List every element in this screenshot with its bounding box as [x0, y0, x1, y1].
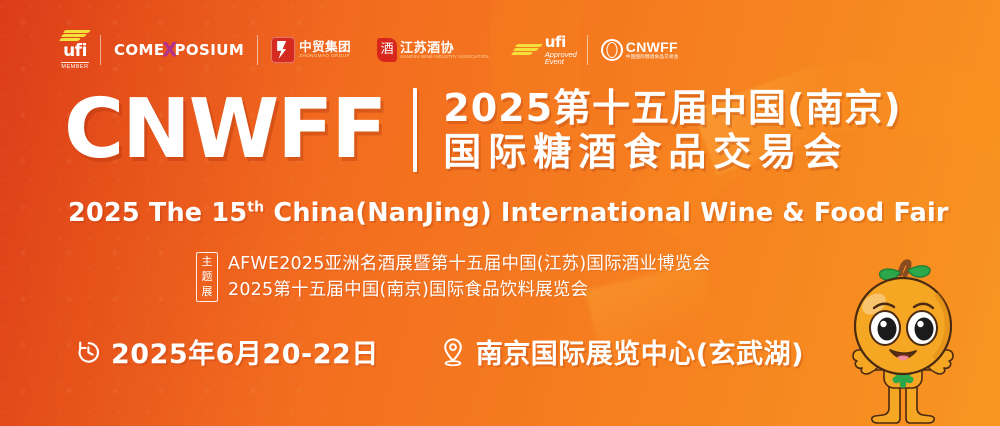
event-banner: ufi Member COMEXPOSIUM 中贸集团 ZHONGMAO GRO…	[0, 0, 1000, 426]
theme-line-1: AFWE2025亚洲名酒展暨第十五届中国(江苏)国际酒业博览会	[228, 253, 710, 276]
theme-badge: 主 题 展	[196, 252, 218, 302]
ufi-approved-text: ufi	[545, 35, 566, 50]
logo-comexposium[interactable]: COMEXPOSIUM	[101, 28, 257, 72]
subtitle-post: China(NanJing) International Wine & Food…	[264, 198, 948, 228]
orange-mascot	[828, 258, 978, 426]
zhongmao-en-name: ZHONGMAO GROUP	[299, 54, 351, 59]
event-venue-text: 南京国际展览中心(玄武湖)	[476, 332, 804, 371]
logo-zhongmao-group[interactable]: 中贸集团 ZHONGMAO GROUP	[258, 28, 364, 72]
ufi-member-subtext: Member	[61, 62, 88, 70]
theme-badge-char-2: 题	[202, 270, 213, 284]
chinese-title-line-2: 国际糖酒食品交易会	[443, 132, 902, 172]
logo-jiangsu-wine-association[interactable]: 江苏酒协 JIANGSU WINE INDUSTRY ASSOCIATION	[364, 28, 502, 72]
logo-ufi-approved-event[interactable]: ufi Approved Event	[502, 28, 587, 72]
subtitle-pre: 2025 The 15	[68, 198, 247, 228]
event-venue: 南京国际展览中心(玄武湖)	[439, 332, 804, 371]
subtitle-ordinal: th	[247, 200, 264, 216]
page-title: CNWFF	[64, 89, 385, 171]
theme-lines: AFWE2025亚洲名酒展暨第十五届中国(江苏)国际酒业博览会 2025第十五届…	[228, 253, 710, 302]
globe-icon	[601, 39, 623, 61]
title-divider	[413, 88, 417, 172]
hero-title-group: CNWFF 2025第十五届中国(南京) 国际糖酒食品交易会	[64, 88, 902, 173]
comexposium-text: COMEXPOSIUM	[114, 41, 244, 59]
logo-ufi-member[interactable]: ufi Member	[50, 28, 100, 72]
event-info-row: 2025年6月20-22日 南京国际展览中心(玄武湖)	[74, 332, 804, 371]
jiangsu-cn-name: 江苏酒协	[400, 41, 489, 55]
ufi-wing-icon	[60, 30, 90, 42]
comex-x-icon: X	[162, 38, 178, 62]
clock-icon	[74, 338, 102, 366]
jiangsu-en-name: JIANGSU WINE INDUSTRY ASSOCIATION	[400, 55, 489, 59]
zhongmao-text-block: 中贸集团 ZHONGMAO GROUP	[299, 41, 351, 59]
cnwff-logo-main: CNWFF	[626, 40, 679, 54]
theme-badge-char-3: 展	[202, 285, 213, 299]
ufi-member-text: ufi	[63, 43, 87, 60]
event-date-text: 2025年6月20-22日	[111, 332, 379, 371]
theme-badge-char-1: 主	[202, 255, 213, 269]
zhongmao-mark-icon	[271, 37, 295, 63]
logo-cnwff[interactable]: CNWFF 中国国际糖酒食品交易会	[588, 28, 692, 72]
theme-exhibitions: 主 题 展 AFWE2025亚洲名酒展暨第十五届中国(江苏)国际酒业博览会 20…	[196, 252, 710, 302]
event-date: 2025年6月20-22日	[74, 332, 379, 371]
cnwff-logo-text-block: CNWFF 中国国际糖酒食品交易会	[626, 40, 679, 60]
ufi-approved-sub2: Event	[545, 58, 564, 66]
sponsor-logo-bar: ufi Member COMEXPOSIUM 中贸集团 ZHONGMAO GRO…	[50, 26, 692, 74]
location-pin-icon	[439, 337, 467, 367]
comex-part-1: COME	[114, 41, 165, 59]
chinese-title-block: 2025第十五届中国(南京) 国际糖酒食品交易会	[443, 88, 902, 173]
jiangsu-seal-icon	[377, 38, 397, 62]
english-subtitle: 2025 The 15th China(NanJing) Internation…	[68, 198, 949, 228]
chinese-title-line-1: 2025第十五届中国(南京)	[443, 88, 902, 128]
comex-part-2: POSIUM	[175, 41, 245, 59]
theme-line-2: 2025第十五届中国(南京)国际食品饮料展览会	[228, 279, 710, 302]
cnwff-logo-sub: 中国国际糖酒食品交易会	[626, 55, 679, 60]
jiangsu-text-block: 江苏酒协 JIANGSU WINE INDUSTRY ASSOCIATION	[400, 41, 489, 59]
ufi-approved-text-block: ufi Approved Event	[545, 35, 577, 66]
ufi-approved-wing-icon	[512, 44, 542, 56]
